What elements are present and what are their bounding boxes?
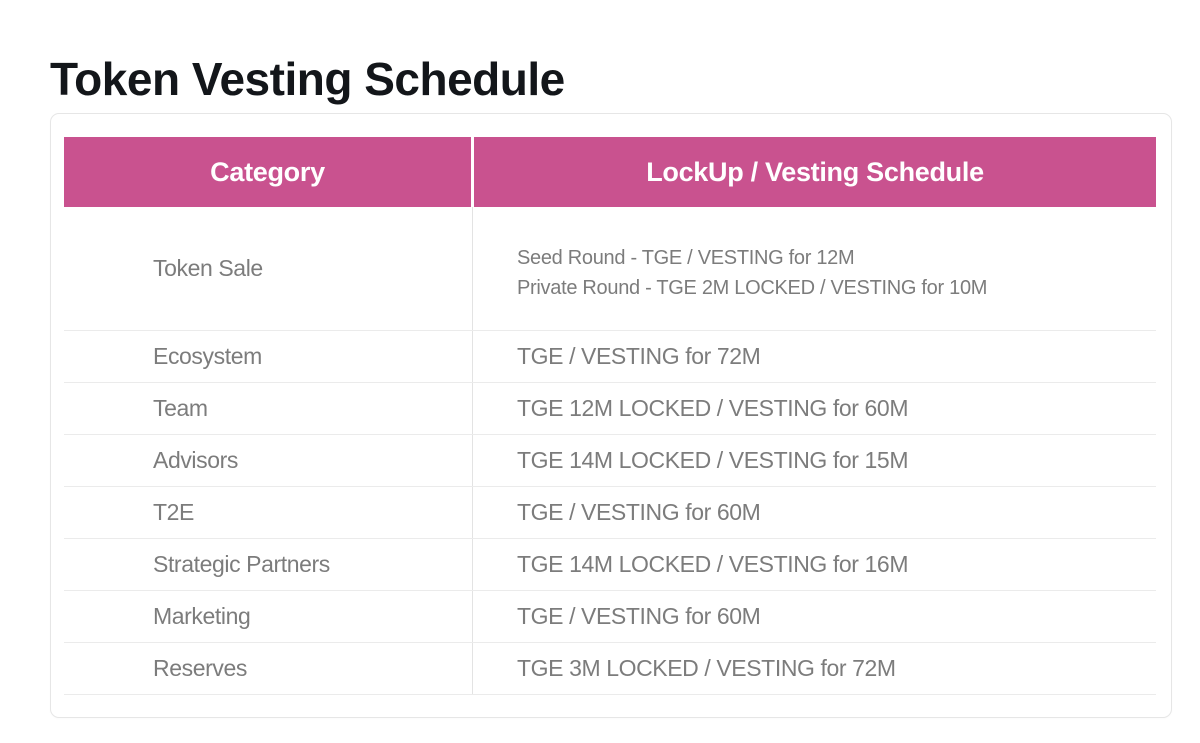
cell-category: Ecosystem bbox=[64, 331, 472, 382]
cell-schedule: TGE 14M LOCKED / VESTING for 16M bbox=[472, 539, 1156, 590]
cell-category: Token Sale bbox=[64, 207, 472, 330]
cell-category: Team bbox=[64, 383, 472, 434]
cell-schedule: TGE / VESTING for 60M bbox=[472, 487, 1156, 538]
cell-category: Marketing bbox=[64, 591, 472, 642]
cell-schedule: TGE / VESTING for 72M bbox=[472, 331, 1156, 382]
table-row: Strategic Partners TGE 14M LOCKED / VEST… bbox=[64, 539, 1156, 591]
table-row: Token Sale Seed Round - TGE / VESTING fo… bbox=[64, 207, 1156, 331]
table-row: Advisors TGE 14M LOCKED / VESTING for 15… bbox=[64, 435, 1156, 487]
cell-category: Advisors bbox=[64, 435, 472, 486]
column-header-category: Category bbox=[64, 137, 471, 207]
page-title: Token Vesting Schedule bbox=[50, 49, 565, 109]
cell-category: T2E bbox=[64, 487, 472, 538]
cell-schedule: Seed Round - TGE / VESTING for 12M Priva… bbox=[472, 207, 1156, 330]
schedule-line: Seed Round - TGE / VESTING for 12M bbox=[517, 243, 1156, 273]
schedule-line: Private Round - TGE 2M LOCKED / VESTING … bbox=[517, 273, 1156, 303]
cell-schedule: TGE / VESTING for 60M bbox=[472, 591, 1156, 642]
cell-schedule: TGE 14M LOCKED / VESTING for 15M bbox=[472, 435, 1156, 486]
table-row: T2E TGE / VESTING for 60M bbox=[64, 487, 1156, 539]
table-row: Marketing TGE / VESTING for 60M bbox=[64, 591, 1156, 643]
table-row: Reserves TGE 3M LOCKED / VESTING for 72M bbox=[64, 643, 1156, 695]
table-header-row: Category LockUp / Vesting Schedule bbox=[64, 137, 1156, 207]
table-body: Token Sale Seed Round - TGE / VESTING fo… bbox=[64, 207, 1156, 695]
cell-schedule: TGE 12M LOCKED / VESTING for 60M bbox=[472, 383, 1156, 434]
cell-category: Reserves bbox=[64, 643, 472, 694]
page-root: Token Vesting Schedule Category LockUp /… bbox=[0, 0, 1200, 743]
vesting-schedule-table: Category LockUp / Vesting Schedule Token… bbox=[64, 137, 1156, 695]
cell-schedule: TGE 3M LOCKED / VESTING for 72M bbox=[472, 643, 1156, 694]
table-row: Ecosystem TGE / VESTING for 72M bbox=[64, 331, 1156, 383]
vesting-schedule-card: Category LockUp / Vesting Schedule Token… bbox=[50, 113, 1172, 718]
cell-category: Strategic Partners bbox=[64, 539, 472, 590]
column-header-schedule: LockUp / Vesting Schedule bbox=[474, 137, 1156, 207]
table-row: Team TGE 12M LOCKED / VESTING for 60M bbox=[64, 383, 1156, 435]
